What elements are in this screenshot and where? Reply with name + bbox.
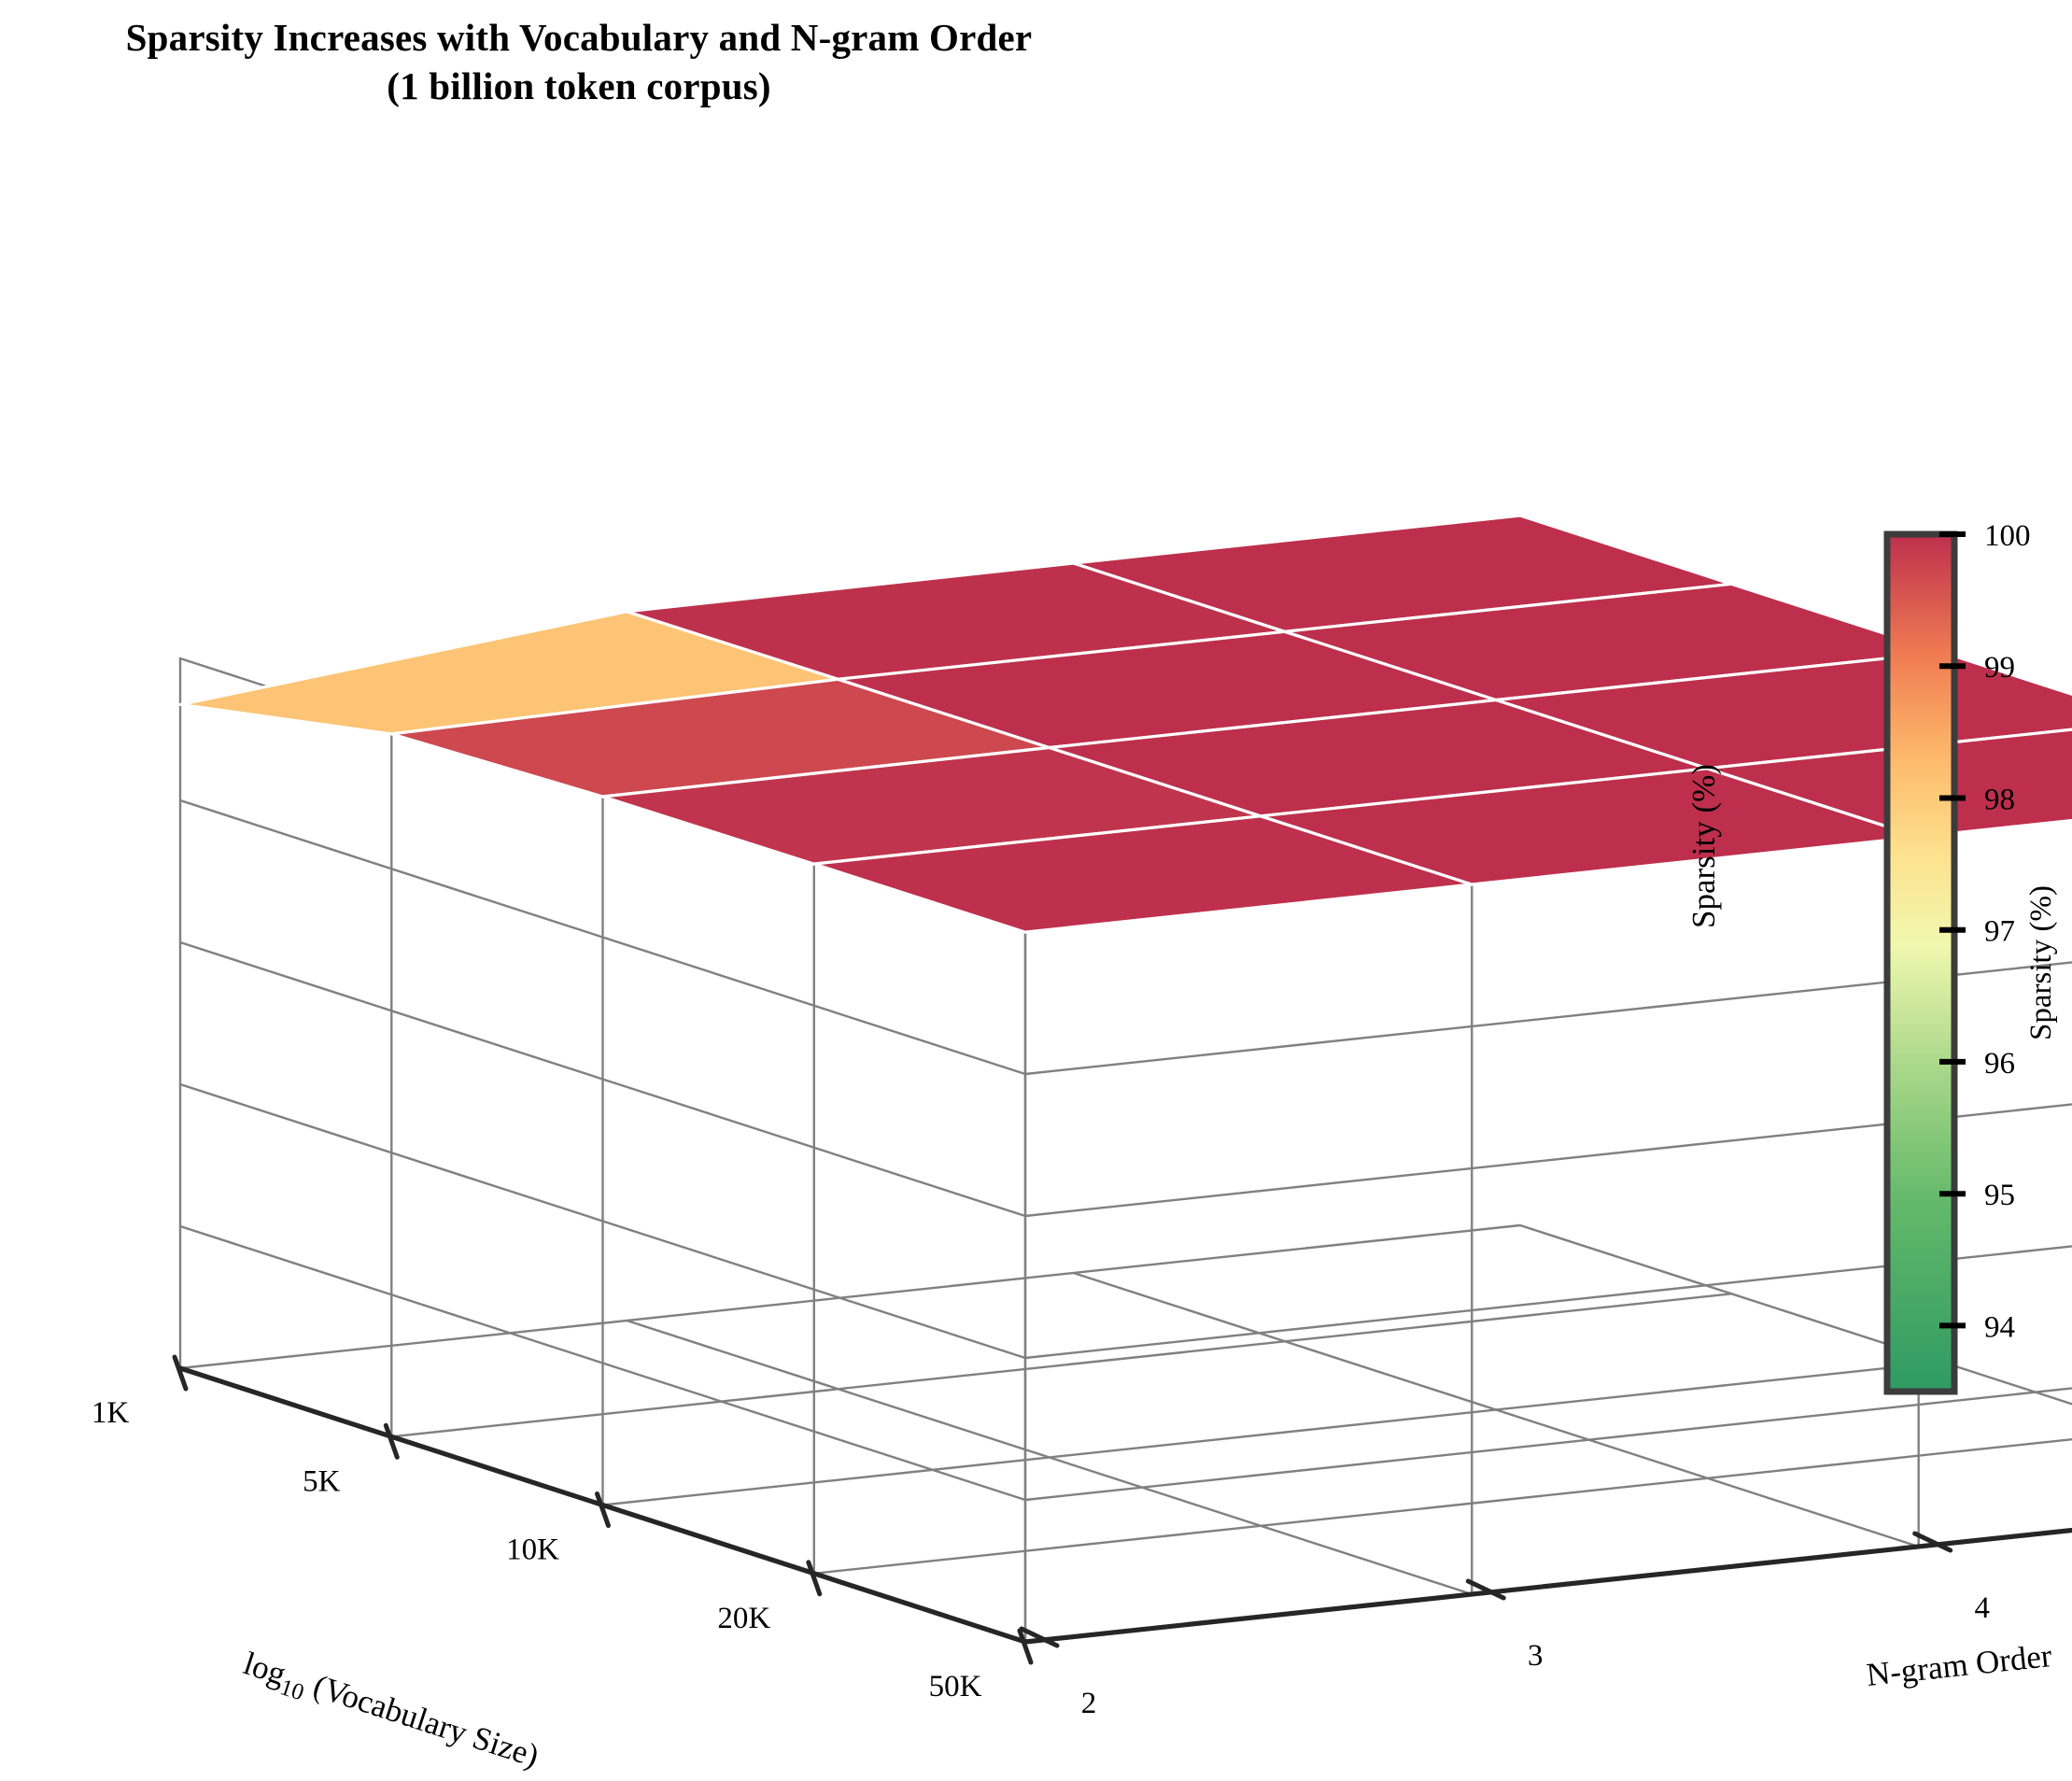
colorbar-tick-label: 100 (1984, 519, 2031, 553)
floor-gridline-x (391, 1293, 1731, 1436)
colorbar-tick-label: 99 (1984, 651, 2015, 685)
floor-gridline-x (180, 1225, 1520, 1368)
x-axis-title: log10 (Vocabulary Size) (237, 1645, 543, 1780)
colorbar-tick-label: 96 (1984, 1047, 2015, 1081)
colorbar-title: Sparsity (%) (2024, 885, 2058, 1040)
colorbar-tick-label: 97 (1984, 915, 2015, 949)
x-tick-label: 10K (506, 1534, 559, 1567)
y-tick-label: 4 (1974, 1591, 1990, 1625)
floor-gridline-y (1520, 1225, 2072, 1499)
x-tick-label: 1K (92, 1396, 130, 1430)
wall-right-gridline-h (1025, 1499, 2072, 1642)
floor-gridline-x (1025, 1499, 2072, 1642)
y-tick-label: 3 (1528, 1639, 1543, 1673)
floor-gridline-x (603, 1363, 1943, 1505)
y-tick-label: 2 (1081, 1687, 1097, 1720)
z-axis-title: Sparsity (%) (1685, 764, 1722, 928)
colorbar[interactable]: 949596979899100 Sparsity (%) (1887, 519, 2058, 1392)
surface-mesh (180, 516, 2072, 932)
x-tick-label: 5K (303, 1464, 341, 1498)
colorbar-tick-label: 94 (1984, 1310, 2015, 1344)
colorbar-tick-label: 95 (1984, 1179, 2015, 1212)
colorbar-gradient (1887, 534, 1954, 1392)
surface-plot-3d: 1K5K10K20K50K2345020406080100 log10 (Voc… (0, 0, 2072, 1781)
colorbar-tick-label: 98 (1984, 784, 2015, 817)
x-tick-label: 20K (717, 1602, 770, 1635)
x-tick-label: 50K (929, 1670, 982, 1703)
y-axis-title: N-gram Order (1865, 1637, 2054, 1693)
y-axis-spine (1025, 1499, 2072, 1642)
